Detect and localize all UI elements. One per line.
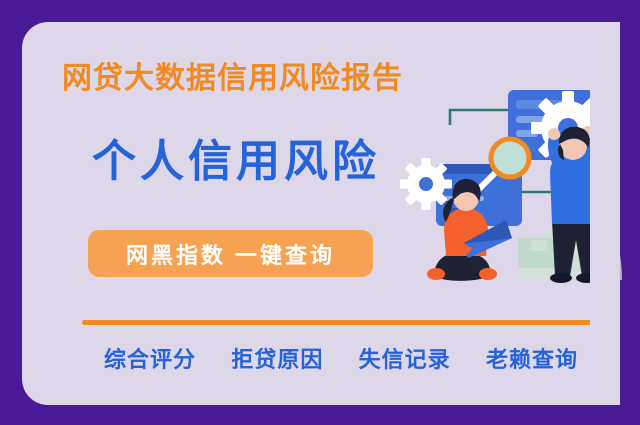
query-button[interactable]: 网黑指数 一键查询 xyxy=(88,230,373,277)
promo-poster: 网贷大数据信用风险报告 个人信用风险 网黑指数 一键查询 综合评分 拒贷原因 失… xyxy=(0,0,640,425)
footer-item-score[interactable]: 综合评分 xyxy=(104,342,196,374)
gear-small-white xyxy=(400,158,452,210)
subtitle: 个人信用风险 xyxy=(92,140,380,184)
orange-divider xyxy=(82,320,600,325)
query-button-label: 网黑指数 一键查询 xyxy=(126,238,335,270)
footer-links: 综合评分 拒贷原因 失信记录 老赖查询 xyxy=(82,342,600,374)
footer-item-record[interactable]: 失信记录 xyxy=(359,342,451,374)
box-label xyxy=(531,240,547,251)
poster-card: 网贷大数据信用风险报告 个人信用风险 网黑指数 一键查询 综合评分 拒贷原因 失… xyxy=(22,22,620,405)
footer-item-reason[interactable]: 拒贷原因 xyxy=(231,342,323,374)
page-title: 网贷大数据信用风险报告 xyxy=(62,64,403,94)
data-analysis-illustration xyxy=(400,80,632,312)
footer-item-blacklist[interactable]: 老赖查询 xyxy=(486,342,578,374)
